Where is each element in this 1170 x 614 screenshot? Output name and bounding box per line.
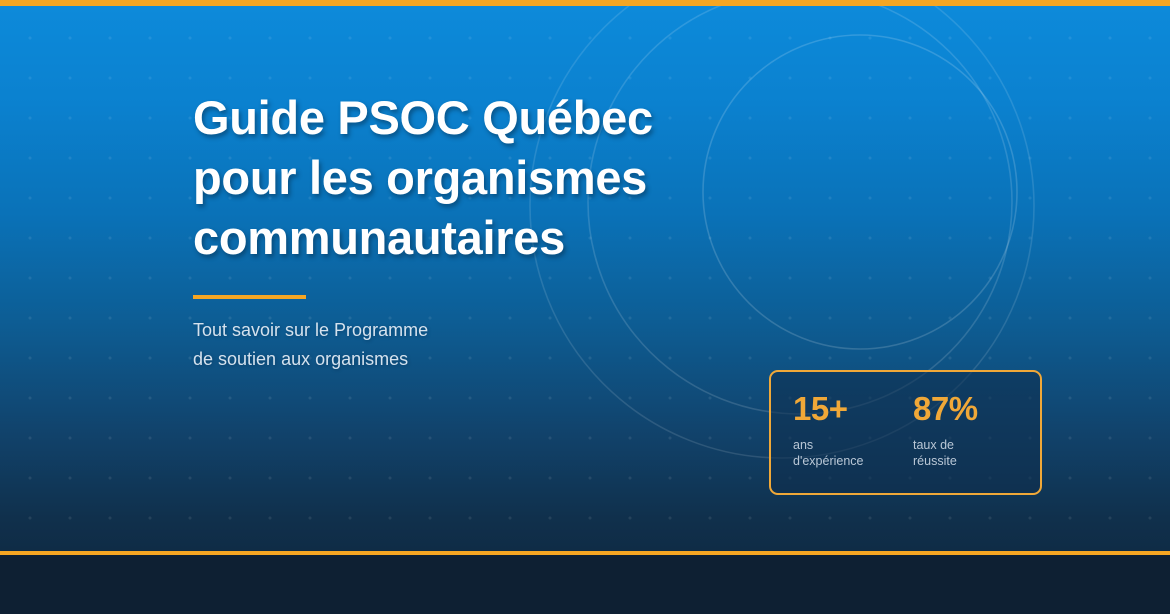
subtitle-accent-rule bbox=[193, 295, 306, 299]
title-line-3: communautaires bbox=[193, 208, 753, 268]
stat-success-rate-value: 87% bbox=[913, 390, 1033, 428]
footer-accent-rule bbox=[0, 551, 1170, 555]
subtitle-line-1: Tout savoir sur le Programme bbox=[193, 316, 428, 345]
stat-experience-value: 15+ bbox=[793, 390, 913, 428]
stat-experience: 15+ ans d'expérience bbox=[793, 390, 913, 469]
stat-success-rate-label-line-2: réussite bbox=[913, 453, 1033, 469]
stat-success-rate-label-line-1: taux de bbox=[913, 437, 1033, 453]
top-accent-bar bbox=[0, 0, 1170, 6]
stat-success-rate-label: taux de réussite bbox=[913, 437, 1033, 469]
page-title: Guide PSOC Québec pour les organismes co… bbox=[193, 88, 753, 268]
subtitle-line-2: de soutien aux organismes bbox=[193, 345, 428, 374]
subtitle-block: Tout savoir sur le Programme de soutien … bbox=[193, 295, 428, 374]
title-line-1: Guide PSOC Québec bbox=[193, 88, 753, 148]
title-line-2: pour les organismes bbox=[193, 148, 753, 208]
stat-success-rate: 87% taux de réussite bbox=[913, 390, 1033, 469]
promo-banner: Guide PSOC Québec pour les organismes co… bbox=[0, 0, 1170, 614]
footer-bar bbox=[0, 555, 1170, 614]
stat-experience-label: ans d'expérience bbox=[793, 437, 913, 469]
stat-experience-label-line-2: d'expérience bbox=[793, 453, 913, 469]
stat-experience-label-line-1: ans bbox=[793, 437, 913, 453]
stats-card: 15+ ans d'expérience 87% taux de réussit… bbox=[769, 370, 1042, 495]
